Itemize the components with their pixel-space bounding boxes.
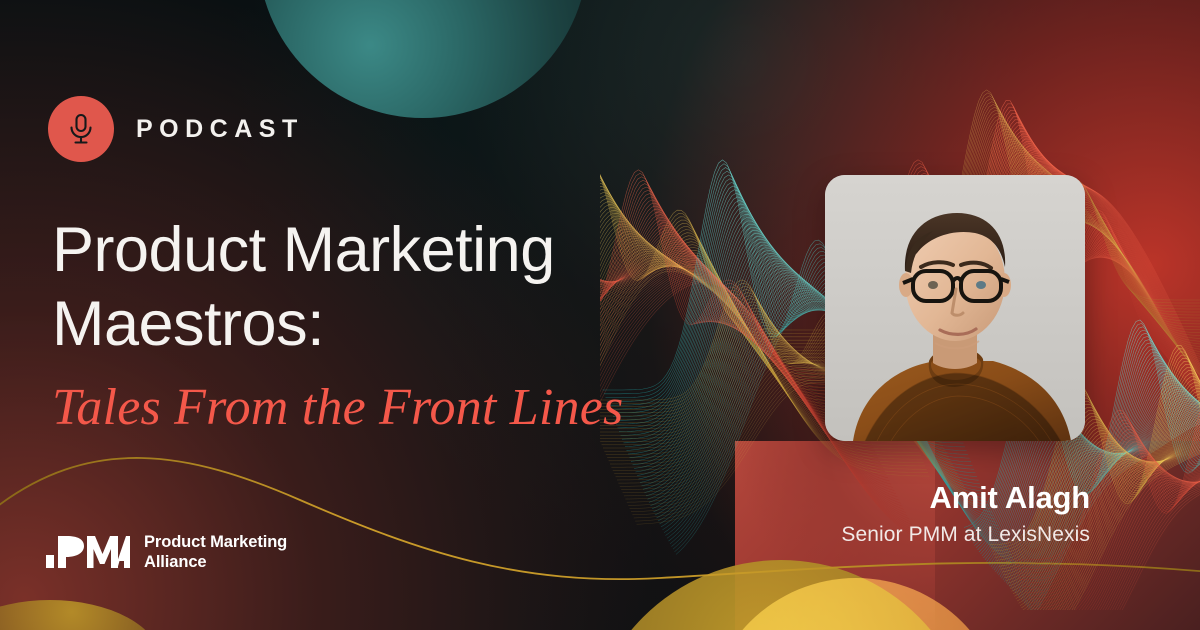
speaker-role: Senior PMM at LexisNexis [841, 521, 1090, 549]
teal-circle-decoration [258, 0, 588, 118]
podcast-badge: PODCAST [48, 96, 304, 162]
podcast-promo-graphic: PODCAST Product Marketing Maestros: Tale… [0, 0, 1200, 630]
speaker-name: Amit Alagh [841, 480, 1090, 516]
pma-wordmark-line-2: Alliance [144, 552, 287, 572]
headline-line-1: Product Marketing [52, 213, 732, 287]
gold-sliver-decoration [0, 600, 160, 630]
microphone-icon [48, 96, 114, 162]
headline-line-2: Maestros: [52, 287, 732, 361]
olive-circle-decoration [586, 560, 976, 630]
pma-logomark-icon [46, 535, 130, 569]
portrait-illustration [825, 175, 1085, 441]
pma-logo: Product Marketing Alliance [46, 532, 287, 572]
speaker-portrait [825, 175, 1085, 441]
podcast-label: PODCAST [136, 115, 304, 144]
pma-wordmark-line-1: Product Marketing [144, 532, 287, 552]
headline-subtitle: Tales From the Front Lines [52, 379, 732, 437]
speaker-info: Amit Alagh Senior PMM at LexisNexis [841, 480, 1090, 549]
headline-block: Product Marketing Maestros: Tales From t… [52, 213, 732, 437]
pma-wordmark: Product Marketing Alliance [144, 532, 287, 572]
orange-circle-decoration [706, 578, 1006, 630]
